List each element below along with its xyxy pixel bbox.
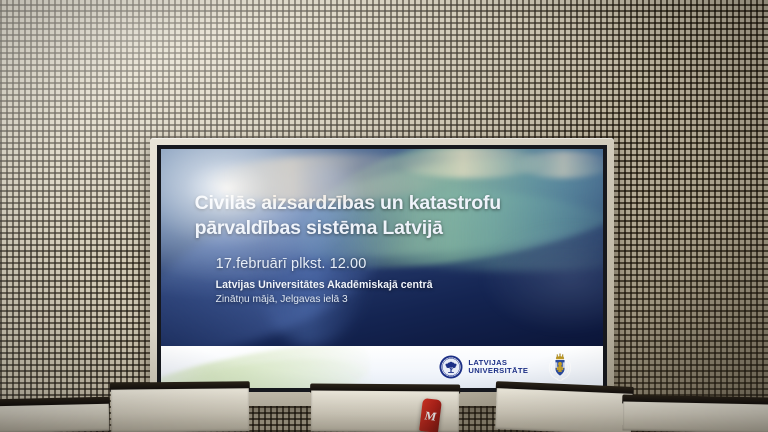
coat-of-arms-icon bbox=[546, 352, 574, 382]
slide-meta: 17.februārī plkst. 12.00 Latvijas Univer… bbox=[216, 255, 586, 308]
lu-wordmark: LATVIJAS UNIVERSITĀTE bbox=[468, 359, 528, 376]
slide-event-venue: Latvijas Universitātes Akadēmiskajā cent… bbox=[216, 278, 586, 293]
chair-back bbox=[495, 388, 633, 432]
chair-5 bbox=[622, 394, 768, 432]
slide-event-time: 17.februārī plkst. 12.00 bbox=[216, 255, 586, 275]
display-screen[interactable]: Civilās aizsardzības un katastrofu pārva… bbox=[157, 145, 607, 392]
lu-wordmark-line-2: UNIVERSITĀTE bbox=[468, 367, 528, 376]
slide-title-line-1: Civilās aizsardzības un katastrofu bbox=[195, 191, 586, 215]
chair-back bbox=[0, 404, 109, 432]
latvijas-universitate-logo: LATVIJAS UNIVERSITĀTE bbox=[439, 355, 528, 379]
lu-seal-icon bbox=[439, 355, 463, 379]
chair-1 bbox=[0, 397, 110, 432]
room-scene: Civilās aizsardzības un katastrofu pārva… bbox=[0, 0, 768, 432]
slide-title-line-2: pārvaldības sistēma Latvijā bbox=[195, 216, 586, 240]
wall-mounted-display[interactable]: Civilās aizsardzības un katastrofu pārva… bbox=[150, 138, 614, 406]
chair-back bbox=[111, 388, 249, 432]
red-sign-object: M bbox=[419, 398, 442, 432]
slide-title: Civilās aizsardzības un katastrofu pārva… bbox=[195, 191, 586, 239]
slide-text-block: Civilās aizsardzības un katastrofu pārva… bbox=[195, 149, 586, 346]
chair-back bbox=[623, 401, 768, 432]
chair-4 bbox=[494, 381, 634, 432]
presentation-slide: Civilās aizsardzības un katastrofu pārva… bbox=[161, 149, 603, 388]
footer-logos: LATVIJAS UNIVERSITĀTE bbox=[439, 352, 574, 382]
slide-body: Civilās aizsardzības un katastrofu pārva… bbox=[161, 149, 603, 346]
chair-2 bbox=[110, 381, 251, 432]
red-sign-logo-glyph: M bbox=[423, 409, 437, 422]
slide-event-address: Zinātņu mājā, Jelgavas ielā 3 bbox=[216, 293, 586, 308]
